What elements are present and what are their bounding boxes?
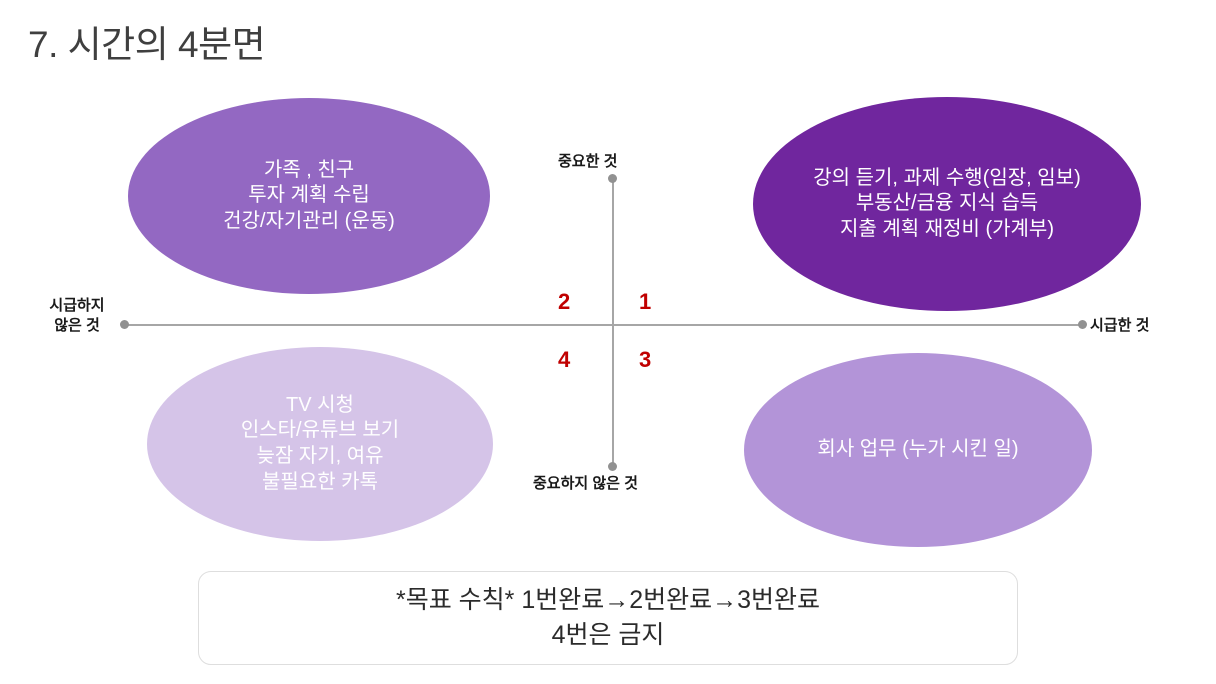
quadrant-ellipse-q3: 회사 업무 (누가 시킨 일): [744, 353, 1092, 547]
page-title: 7. 시간의 4분면: [28, 14, 265, 68]
horizontal-axis-line: [124, 324, 1084, 326]
vertical-axis-line: [612, 178, 614, 466]
axis-label-not-important: 중요하지 않은 것: [533, 474, 638, 494]
quadrant-ellipse-q1: 강의 듣기, 과제 수행(임장, 임보) 부동산/금융 지식 습득 지출 계획 …: [753, 97, 1141, 311]
quadrant-number-4: 4: [558, 347, 570, 373]
quadrant-ellipse-q2: 가족 , 친구 투자 계획 수립 건강/자기관리 (운동): [128, 98, 490, 294]
axis-endpoint-dot-right: [1078, 320, 1087, 329]
quadrant-ellipse-q4-text: TV 시청 인스타/유튜브 보기 늦잠 자기, 여유 불필요한 카톡: [147, 393, 493, 495]
goal-rule-text: *목표 수칙* 1번완료→2번완료→3번완료 4번은 금지: [396, 583, 820, 654]
axis-label-not-urgent: 시급하지 않은 것: [36, 296, 118, 335]
axis-label-important: 중요한 것: [558, 152, 617, 172]
axis-endpoint-dot-top: [608, 174, 617, 183]
quadrant-ellipse-q4: TV 시청 인스타/유튜브 보기 늦잠 자기, 여유 불필요한 카톡: [147, 347, 493, 541]
goal-rule-box: *목표 수칙* 1번완료→2번완료→3번완료 4번은 금지: [198, 571, 1018, 665]
quadrant-number-2: 2: [558, 289, 570, 315]
axis-label-urgent: 시급한 것: [1090, 316, 1149, 336]
quadrant-number-3: 3: [639, 347, 651, 373]
quadrant-ellipse-q3-text: 회사 업무 (누가 시킨 일): [744, 437, 1092, 463]
axis-endpoint-dot-left: [120, 320, 129, 329]
quadrant-number-1: 1: [639, 289, 651, 315]
axis-endpoint-dot-bottom: [608, 462, 617, 471]
quadrant-ellipse-q2-text: 가족 , 친구 투자 계획 수립 건강/자기관리 (운동): [128, 158, 490, 235]
slide-canvas: 7. 시간의 4분면 중요한 것 중요하지 않은 것 시급한 것 시급하지 않은…: [0, 0, 1216, 684]
quadrant-ellipse-q1-text: 강의 듣기, 과제 수행(임장, 임보) 부동산/금융 지식 습득 지출 계획 …: [753, 166, 1141, 243]
